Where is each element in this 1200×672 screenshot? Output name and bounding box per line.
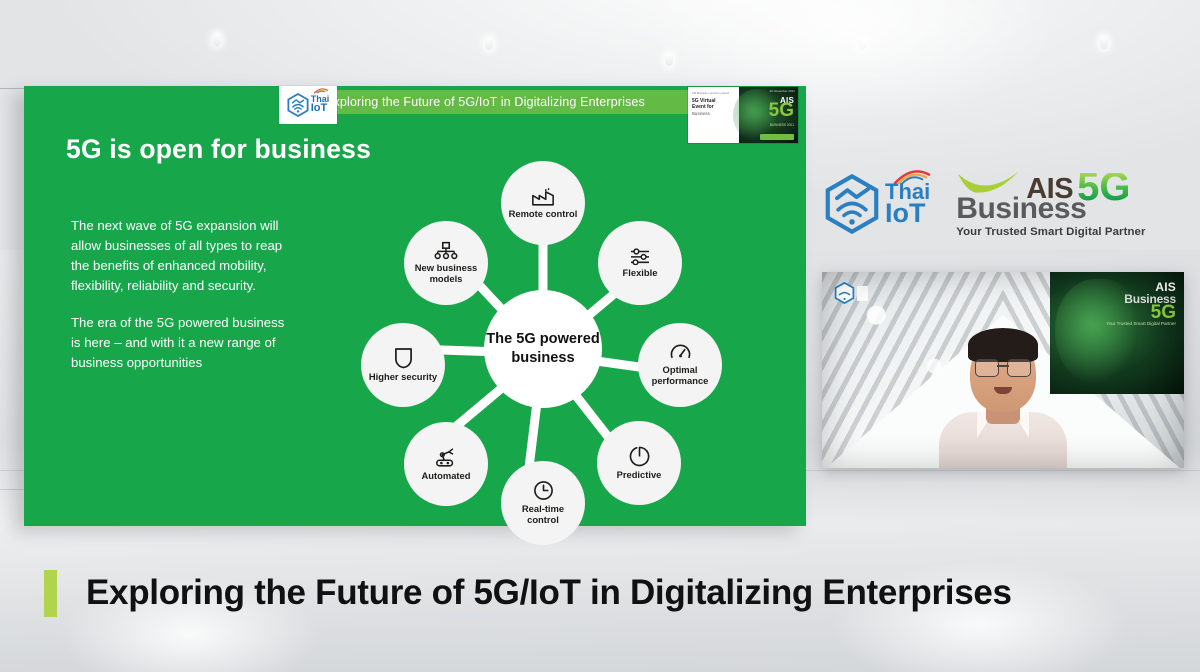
ceiling-spotlight [213, 33, 221, 46]
slide-header-title: Exploring the Future of 5G/IoT in Digita… [325, 95, 645, 109]
slide-header: Exploring the Future of 5G/IoT in Digita… [24, 86, 806, 115]
thaiiot-logo-badge: Thai IoT [279, 86, 337, 124]
node-label: Automated [417, 471, 476, 482]
speaker-video-feed[interactable]: AIS Business 5G Your Trusted Smart Digit… [822, 272, 1184, 468]
banner-title: Exploring the Future of 5G/IoT in Digita… [86, 573, 1012, 613]
sponsor-logo-bar: Thai IoT AIS 5G Business Your Trusted Sm… [824, 150, 1184, 258]
shield-icon [394, 347, 413, 369]
banner-accent-bar [44, 570, 57, 617]
ais-tagline: Your Trusted Smart Digital Partner [956, 226, 1145, 238]
node-predictive[interactable]: Predictive [597, 421, 681, 505]
thaiiot-logo: Thai IoT [824, 174, 930, 234]
node-optimal-performance[interactable]: Optimal performance [638, 323, 722, 407]
node-flexible[interactable]: Flexible [598, 221, 682, 305]
node-label: Flexible [618, 268, 663, 279]
thaiiot-hex-icon [287, 93, 309, 117]
thaiiot-wordmark: Thai IoT [885, 183, 930, 225]
robot-arm-icon [434, 447, 458, 468]
node-label: Higher security [364, 372, 442, 383]
center-hub-label: The 5G powered business [484, 330, 602, 367]
slide-paragraph-1: The next wave of 5G expansion will allow… [71, 216, 286, 296]
promo-cta-button[interactable] [760, 134, 794, 140]
thaiiot-wordmark: Thai IoT [311, 96, 330, 114]
thaiiot-badge-line2: IoT [311, 104, 330, 114]
slide-body-text: The next wave of 5G expansion will allow… [71, 216, 286, 390]
node-higher-security[interactable]: Higher security [361, 323, 445, 407]
node-label: Remote control [504, 209, 583, 220]
diagram-center-hub[interactable]: The 5G powered business [484, 290, 602, 408]
hub-and-spoke-diagram: Remote control Flexible [334, 141, 754, 521]
node-remote-control[interactable]: Remote control [501, 161, 585, 245]
promo-sub-label: BUSINESS 2021 [770, 123, 794, 127]
signal-wave-icon [313, 87, 329, 94]
thaiiot-line2: IoT [885, 202, 930, 225]
ceiling-spotlight [1100, 36, 1108, 49]
ceiling-spotlight [858, 38, 866, 51]
promo-thumbnail-text: AIS Business x proud to present 5G Virtu… [688, 87, 739, 143]
promo-thumbnail-art: 26 November 2021 AIS 5G BUSINESS 2021 [739, 87, 798, 143]
slide-header-band: Exploring the Future of 5G/IoT in Digita… [312, 90, 722, 114]
factory-icon [531, 187, 555, 206]
node-label: Optimal performance [638, 365, 722, 387]
slide-title: 5G is open for business [66, 134, 371, 165]
promo-title-line3: Business [692, 111, 735, 116]
promo-thumbnail[interactable]: AIS Business x proud to present 5G Virtu… [688, 87, 798, 143]
node-new-business-models[interactable]: New business models [404, 221, 488, 305]
broadcast-stage: Exploring the Future of 5G/IoT in Digita… [0, 0, 1200, 672]
promo-eyebrow: AIS Business x proud to present [692, 92, 735, 95]
ais-business-5g-logo: AIS 5G Business Your Trusted Smart Digit… [956, 170, 1145, 239]
node-automated[interactable]: Automated [404, 422, 488, 506]
node-label: Real-time control [501, 504, 585, 526]
promo-5g-label: 5G [769, 103, 794, 119]
hierarchy-icon [434, 241, 458, 260]
presentation-slide[interactable]: Exploring the Future of 5G/IoT in Digita… [24, 86, 806, 526]
node-real-time-control[interactable]: Real-time control [501, 461, 585, 545]
signal-wave-icon [892, 168, 932, 185]
node-label: Predictive [612, 470, 667, 481]
pie-chart-icon [629, 446, 650, 467]
slide-paragraph-2: The era of the 5G powered business is he… [71, 313, 286, 373]
promo-date: 26 November 2021 [769, 89, 795, 93]
bottom-title-banner: Exploring the Future of 5G/IoT in Digita… [0, 548, 1200, 638]
sliders-icon [629, 247, 651, 265]
clock-icon [533, 480, 554, 501]
ceiling-spotlight [485, 37, 493, 50]
ceiling-spotlight [665, 53, 673, 66]
gauge-icon [670, 343, 691, 362]
node-label: New business models [404, 263, 488, 285]
thaiiot-hex-icon [824, 174, 880, 234]
video-vignette [822, 272, 1184, 468]
